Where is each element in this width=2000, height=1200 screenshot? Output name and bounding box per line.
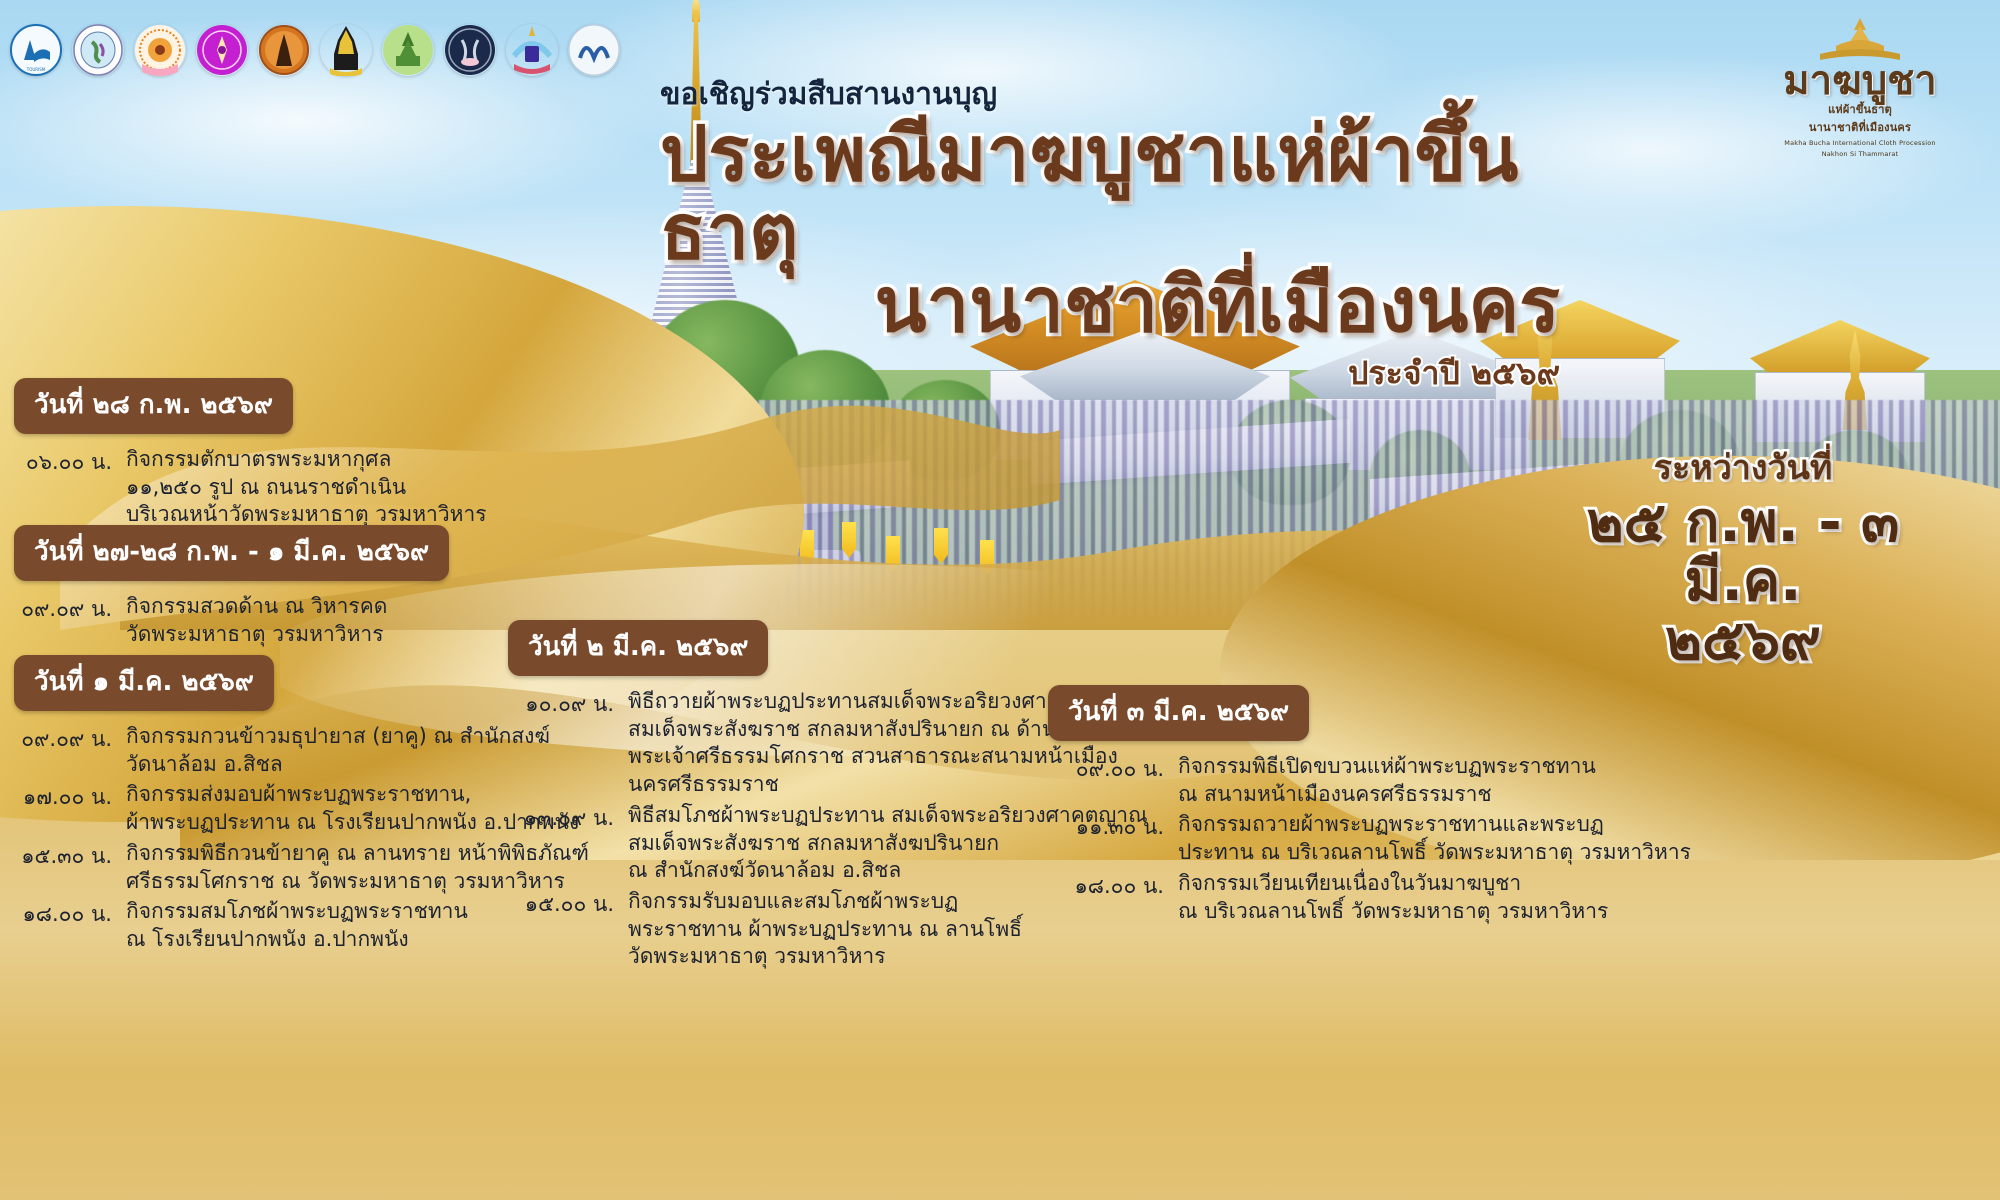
- date-range-label: ระหว่างวันที่: [1528, 440, 1958, 494]
- schedule-description-line: วัดพระมหาธาตุ วรมหาวิหาร: [126, 621, 387, 649]
- schedule-description-line: กิจกรรมรับมอบและสมโภชผ้าพระบฏ: [628, 888, 1022, 916]
- walailak-university-logo: [568, 24, 620, 76]
- schedule-time: ๑๐.๐๙ น.: [508, 688, 628, 799]
- schedule-row: ๑๗.๐๐ น.กิจกรรมส่งมอบผ้าพระบฏพระราชทาน,ผ…: [14, 781, 534, 836]
- schedule-heading: วันที่ ๓ มี.ค. ๒๕๖๙: [1048, 685, 1309, 741]
- poster-title-line-1: ประเพณีมาฆบูชาแห่ผ้าขึ้นธาตุ: [660, 115, 1560, 270]
- schedule-heading: วันที่ ๒๘ ก.พ. ๒๕๖๙: [14, 378, 293, 434]
- schedule-row: ๐๙.๐๐ น.กิจกรรมพิธีเปิดขบวนแห่ผ้าพระบฏพร…: [1048, 753, 1568, 808]
- schedule-row: ๑๕.๐๐ น.กิจกรรมรับมอบและสมโภชผ้าพระบฏพระ…: [508, 888, 1068, 971]
- date-range-value: ๒๕ ก.พ. - ๓ มี.ค.: [1528, 494, 1958, 612]
- event-logo-sub2: นานาชาติที่เมืองนคร: [1750, 118, 1970, 136]
- tourism-authority-of-thailand-logo: TOURISM: [10, 24, 62, 76]
- schedule-time: ๐๖.๐๐ น.: [14, 446, 126, 529]
- event-logo-english-1: Makha Bucha International Cloth Processi…: [1750, 139, 1970, 147]
- schedule-heading: วันที่ ๒ มี.ค. ๒๕๖๙: [508, 620, 768, 676]
- schedule-rows: ๐๙.๐๙ น.กิจกรรมสวดด้าน ณ วิหารคดวัดพระมห…: [14, 593, 514, 648]
- schedule-rows: ๑๐.๐๙ น.พิธีถวายผ้าพระบฏประทานสมเด็จพระอ…: [508, 688, 1068, 971]
- schedule-heading: วันที่ ๑ มี.ค. ๒๕๖๙: [14, 655, 274, 711]
- schedule-description-line: พระราชทาน ผ้าพระบฏประทาน ณ ลานโพธิ์: [628, 916, 1022, 944]
- schedule-description-line: ณ บริเวณลานโพธิ์ วัดพระมหาธาตุ วรมหาวิหา…: [1178, 898, 1608, 926]
- schedule-description-line: ณ สนามหน้าเมืองนครศรีธรรมราช: [1178, 781, 1596, 809]
- schedule-rows: ๐๙.๐๐ น.กิจกรรมพิธีเปิดขบวนแห่ผ้าพระบฏพร…: [1048, 753, 1568, 925]
- provincial-administration-logo: [382, 24, 434, 76]
- schedule-time: ๑๘.๐๐ น.: [14, 898, 126, 953]
- schedule-description: กิจกรรมรับมอบและสมโภชผ้าพระบฏพระราชทาน ผ…: [628, 888, 1022, 971]
- schedule-description: กิจกรรมกวนข้าวมธุปายาส (ยาคู) ณ สำนักสงฆ…: [126, 723, 550, 778]
- schedule-description-line: วัดพระมหาธาตุ วรมหาวิหาร: [628, 943, 1022, 971]
- schedule-row: ๑๘.๐๐ น.กิจกรรมเวียนเทียนเนื่องในวันมาฆบ…: [1048, 870, 1568, 925]
- schedule-heading: วันที่ ๒๗-๒๘ ก.พ. - ๑ มี.ค. ๒๕๖๙: [14, 525, 449, 581]
- svg-text:TOURISM: TOURISM: [26, 67, 46, 72]
- schedule-time: ๑๕.๐๐ น.: [508, 888, 628, 971]
- schedule-rows: ๐๖.๐๐ น.กิจกรรมตักบาตรพระมหากุศล๑๑,๒๕๐ ร…: [14, 446, 494, 529]
- pavilion-roof: [1750, 320, 1930, 378]
- schedule-row: ๐๖.๐๐ น.กิจกรรมตักบาตรพระมหากุศล๑๑,๒๕๐ ร…: [14, 446, 494, 529]
- schedule-time: ๑๕.๓๐ น.: [14, 840, 126, 895]
- royal-emblem-logo: [506, 24, 558, 76]
- nakhon-si-thammarat-province-logo: [258, 24, 310, 76]
- schedule-block-feb-28: วันที่ ๒๘ ก.พ. ๒๕๖๙๐๖.๐๐ น.กิจกรรมตักบาต…: [14, 378, 494, 532]
- organizer-logos: TOURISM: [10, 24, 620, 76]
- schedule-time: ๐๙.๐๐ น.: [1048, 753, 1178, 808]
- schedule-description: กิจกรรมถวายผ้าพระบฏพระราชทานและพระบฏประท…: [1178, 811, 1691, 866]
- schedule-row: ๐๙.๐๙ น.กิจกรรมกวนข้าวมธุปายาส (ยาคู) ณ …: [14, 723, 534, 778]
- schedule-description-line: ๑๑,๒๕๐ รูป ณ ถนนราชดำเนิน: [126, 474, 487, 502]
- schedule-description-line: กิจกรรมตักบาตรพระมหากุศล: [126, 446, 487, 474]
- poster-title-year: ประจำปี ๒๕๖๙: [660, 348, 1560, 399]
- schedule-row: ๑๕.๓๐ น.กิจกรรมพิธีกวนข้ายาคู ณ ลานทราย …: [14, 840, 534, 895]
- schedule-block-feb-27-28-mar-1: วันที่ ๒๗-๒๘ ก.พ. - ๑ มี.ค. ๒๕๖๙๐๙.๐๙ น.…: [14, 525, 514, 651]
- schedule-time: ๑๑.๓๐ น.: [1048, 811, 1178, 866]
- schedule-description-line: กิจกรรมสมโภชผ้าพระบฏพระราชทาน: [126, 898, 468, 926]
- ministry-of-culture-logo: [196, 24, 248, 76]
- date-range-year: ๒๕๖๙: [1528, 612, 1958, 671]
- schedule-row: ๑๑.๓๐ น.กิจกรรมถวายผ้าพระบฏพระราชทานและพ…: [1048, 811, 1568, 866]
- schedule-description: กิจกรรมสมโภชผ้าพระบฏพระราชทานณ โรงเรียนป…: [126, 898, 468, 953]
- schedule-block-mar-3: วันที่ ๓ มี.ค. ๒๕๖๙๐๙.๐๐ น.กิจกรรมพิธีเป…: [1048, 685, 1568, 928]
- event-logo: มาฆบูชา แห่ผ้าขึ้นธาตุ นานาชาติที่เมืองน…: [1750, 16, 1970, 141]
- event-logo-main: มาฆบูชา: [1750, 62, 1970, 100]
- schedule-description-line: วัดนาล้อม อ.สิชล: [126, 751, 550, 779]
- schedule-row: ๐๙.๐๙ น.กิจกรรมสวดด้าน ณ วิหารคดวัดพระมห…: [14, 593, 514, 648]
- schedule-row: ๑๐.๐๙ น.พิธีถวายผ้าพระบฏประทานสมเด็จพระอ…: [508, 688, 1068, 799]
- schedule-description: กิจกรรมสวดด้าน ณ วิหารคดวัดพระมหาธาตุ วร…: [126, 593, 387, 648]
- schedule-description: กิจกรรมเวียนเทียนเนื่องในวันมาฆบูชาณ บริ…: [1178, 870, 1608, 925]
- schedule-time: ๐๙.๐๙ น.: [14, 593, 126, 648]
- schedule-description-line: กิจกรรมสวดด้าน ณ วิหารคด: [126, 593, 387, 621]
- schedule-block-mar-1: วันที่ ๑ มี.ค. ๒๕๖๙๐๙.๐๙ น.กิจกรรมกวนข้า…: [14, 655, 534, 957]
- schedule-description-line: กิจกรรมถวายผ้าพระบฏพระราชทานและพระบฏ: [1178, 811, 1691, 839]
- provincial-office-logo: [72, 24, 124, 76]
- schedule-time: ๑๘.๐๐ น.: [1048, 870, 1178, 925]
- cultural-council-logo: [134, 24, 186, 76]
- sangha-council-logo: [444, 24, 496, 76]
- schedule-description-line: ณ โรงเรียนปากพนัง อ.ปากพนัง: [126, 926, 468, 954]
- schedule-time: ๑๗.๐๐ น.: [14, 781, 126, 836]
- schedule-block-mar-2: วันที่ ๒ มี.ค. ๒๕๖๙๑๐.๐๙ น.พิธีถวายผ้าพร…: [508, 620, 1068, 974]
- schedule-description: กิจกรรมตักบาตรพระมหากุศล๑๑,๒๕๐ รูป ณ ถนน…: [126, 446, 487, 529]
- schedule-description-line: กิจกรรมกวนข้าวมธุปายาส (ยาคู) ณ สำนักสงฆ…: [126, 723, 550, 751]
- schedule-row: ๑๓.๐๙ น.พิธีสมโภชผ้าพระบฏประทาน สมเด็จพร…: [508, 802, 1068, 885]
- kicker-text: ขอเชิญร่วมสืบสานงานบุญ: [660, 78, 1560, 111]
- schedule-time: ๑๓.๐๙ น.: [508, 802, 628, 885]
- festival-poster: TOURISM: [0, 0, 2000, 1200]
- event-logo-english-2: Nakhon Si Thammarat: [1750, 150, 1970, 158]
- headline-block: ขอเชิญร่วมสืบสานงานบุญ ประเพณีมาฆบูชาแห่…: [660, 78, 1560, 399]
- poster-title-line-2: นานาชาติที่เมืองนคร: [660, 266, 1560, 344]
- schedule-description: กิจกรรมพิธีเปิดขบวนแห่ผ้าพระบฏพระราชทานณ…: [1178, 753, 1596, 808]
- schedule-description-line: กิจกรรมพิธีเปิดขบวนแห่ผ้าพระบฏพระราชทาน: [1178, 753, 1596, 781]
- schedule-description-line: กิจกรรมเวียนเทียนเนื่องในวันมาฆบูชา: [1178, 870, 1608, 898]
- schedule-time: ๐๙.๐๙ น.: [14, 723, 126, 778]
- municipality-logo: [320, 24, 372, 76]
- date-range-block: ระหว่างวันที่ ๒๕ ก.พ. - ๓ มี.ค. ๒๕๖๙: [1528, 440, 1958, 670]
- schedule-row: ๑๘.๐๐ น.กิจกรรมสมโภชผ้าพระบฏพระราชทานณ โ…: [14, 898, 534, 953]
- schedule-description-line: ประทาน ณ บริเวณลานโพธิ์ วัดพระมหาธาตุ วร…: [1178, 839, 1691, 867]
- schedule-rows: ๐๙.๐๙ น.กิจกรรมกวนข้าวมธุปายาส (ยาคู) ณ …: [14, 723, 534, 954]
